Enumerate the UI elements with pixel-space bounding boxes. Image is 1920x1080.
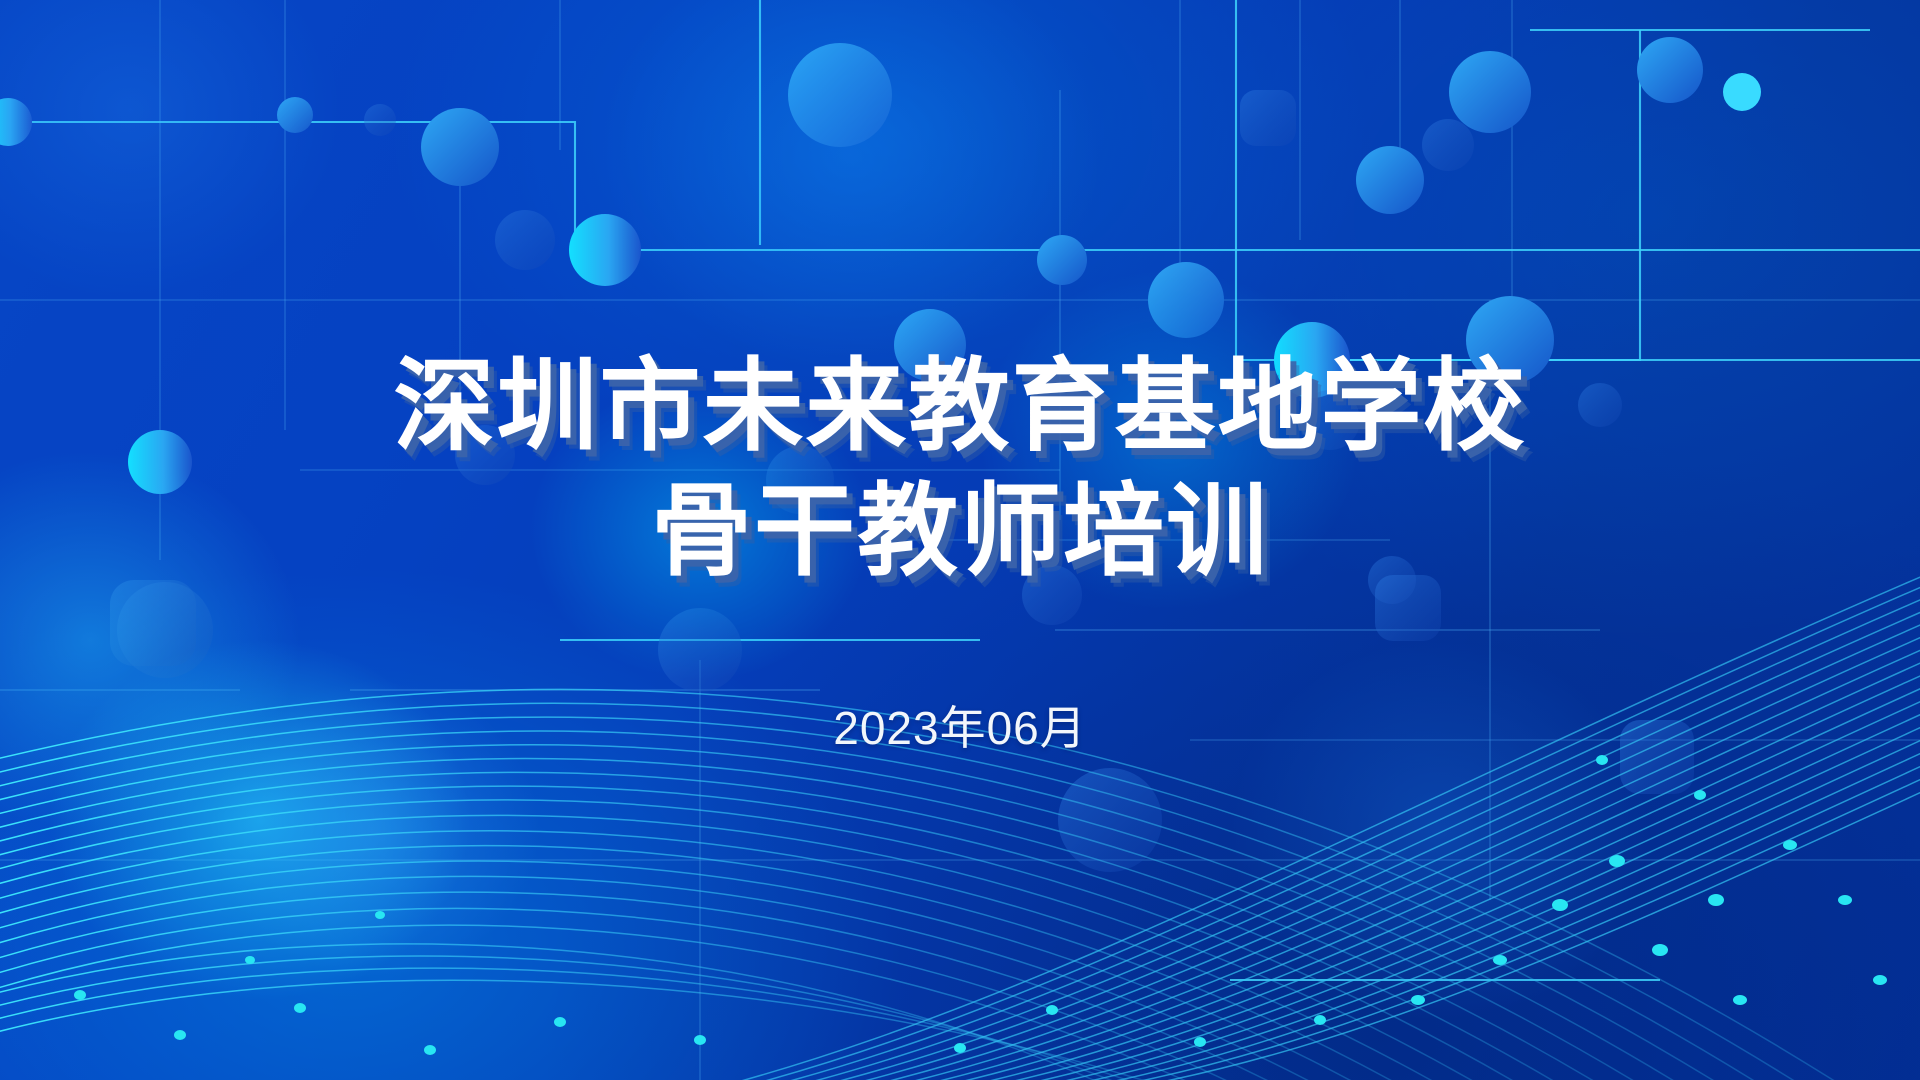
title-slide: 深圳市未来教育基地学校 骨干教师培训 2023年06月	[0, 0, 1920, 1080]
page-title-line-2: 骨干教师培训	[0, 473, 1920, 592]
title-block: 深圳市未来教育基地学校 骨干教师培训	[0, 348, 1920, 592]
page-title-line-1: 深圳市未来教育基地学校	[0, 348, 1920, 467]
slide-date: 2023年06月	[833, 692, 1087, 758]
slide-content: 深圳市未来教育基地学校 骨干教师培训 2023年06月	[0, 0, 1920, 1080]
